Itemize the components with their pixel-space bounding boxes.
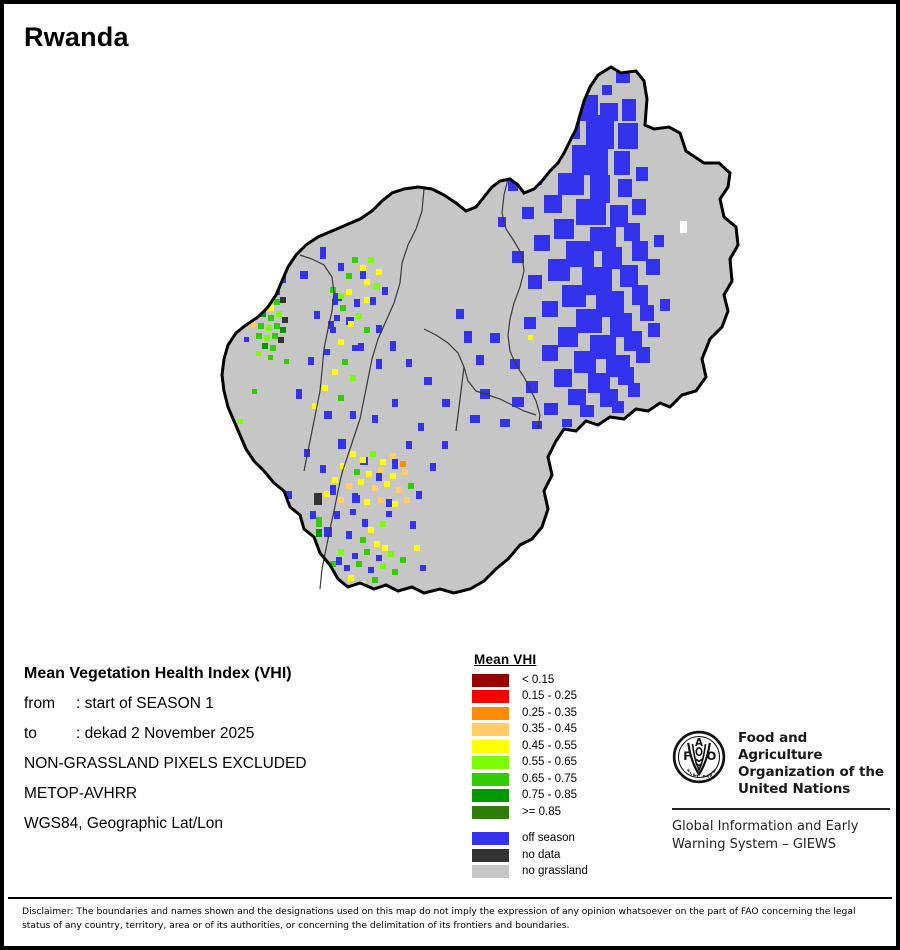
legend-label: 0.55 - 0.65 (522, 756, 577, 769)
map-legend: Mean VHI < 0.15 0.15 - 0.25 0.25 - 0.35 … (472, 652, 662, 880)
from-value: : start of SEASON 1 (76, 695, 214, 712)
to-label: to (24, 719, 76, 749)
legend-item[interactable]: 0.65 - 0.75 (472, 771, 662, 788)
disclaimer-divider (8, 897, 892, 899)
legend-spacer (472, 821, 662, 831)
map-poster: Rwanda (0, 0, 900, 950)
legend-item[interactable]: 0.15 - 0.25 (472, 689, 662, 706)
map-canvas[interactable] (124, 59, 804, 649)
fao-divider (672, 808, 890, 810)
legend-item-no-grassland[interactable]: no grassland (472, 864, 662, 881)
svg-text:F: F (683, 749, 691, 763)
from-label: from (24, 689, 76, 719)
legend-swatch (472, 789, 509, 802)
legend-swatch (472, 723, 509, 736)
rwanda-map[interactable] (124, 59, 804, 649)
legend-label: 0.15 - 0.25 (522, 690, 577, 703)
metadata-sensor: METOP-AVHRR (24, 779, 454, 809)
legend-swatch (472, 773, 509, 786)
metadata-projection: WGS84, Geographic Lat/Lon (24, 809, 454, 839)
fao-organization-name: Food and Agriculture Organization of the… (738, 730, 890, 798)
metadata-to: to: dekad 2 November 2025 (24, 719, 454, 749)
legend-item[interactable]: < 0.15 (472, 672, 662, 689)
legend-swatch (472, 832, 509, 845)
legend-swatch (472, 690, 509, 703)
fao-logo-icon: F A O F I A T P A N I S (672, 730, 726, 784)
legend-label: >= 0.85 (522, 806, 561, 819)
legend-swatch (472, 806, 509, 819)
fao-branding: F A O F I A T P A N I S Food and Agricul… (672, 730, 890, 853)
metadata-from: from: start of SEASON 1 (24, 689, 454, 719)
svg-text:O: O (707, 749, 717, 763)
legend-swatch (472, 740, 509, 753)
legend-swatch (472, 756, 509, 769)
legend-label: no grassland (522, 865, 588, 878)
giews-programme-name: Global Information and Early Warning Sys… (672, 818, 890, 853)
legend-label: off season (522, 832, 575, 845)
legend-title: Mean VHI (474, 652, 662, 667)
legend-item[interactable]: 0.45 - 0.55 (472, 738, 662, 755)
metadata-exclusion: NON-GRASSLAND PIXELS EXCLUDED (24, 749, 454, 779)
legend-item[interactable]: 0.35 - 0.45 (472, 722, 662, 739)
legend-label: 0.75 - 0.85 (522, 789, 577, 802)
legend-label: 0.45 - 0.55 (522, 740, 577, 753)
page-title: Rwanda (24, 22, 129, 53)
legend-item-no-data[interactable]: no data (472, 847, 662, 864)
legend-item[interactable]: 0.25 - 0.35 (472, 705, 662, 722)
disclaimer-text: Disclaimer: The boundaries and names sho… (22, 905, 884, 933)
svg-text:A: A (695, 737, 703, 749)
legend-label: 0.35 - 0.45 (522, 723, 577, 736)
legend-label: 0.65 - 0.75 (522, 773, 577, 786)
fao-header: F A O F I A T P A N I S Food and Agricul… (672, 730, 890, 798)
legend-item[interactable]: >= 0.85 (472, 804, 662, 821)
legend-item[interactable]: 0.75 - 0.85 (472, 788, 662, 805)
legend-label: < 0.15 (522, 674, 554, 687)
legend-item-off-season[interactable]: off season (472, 831, 662, 848)
legend-label: 0.25 - 0.35 (522, 707, 577, 720)
metadata-heading: Mean Vegetation Health Index (VHI) (24, 659, 454, 689)
legend-swatch (472, 674, 509, 687)
legend-item[interactable]: 0.55 - 0.65 (472, 755, 662, 772)
legend-label: no data (522, 849, 560, 862)
legend-swatch (472, 865, 509, 878)
to-value: : dekad 2 November 2025 (76, 725, 254, 742)
legend-swatch (472, 849, 509, 862)
legend-swatch (472, 707, 509, 720)
map-metadata: Mean Vegetation Health Index (VHI) from:… (24, 659, 454, 839)
